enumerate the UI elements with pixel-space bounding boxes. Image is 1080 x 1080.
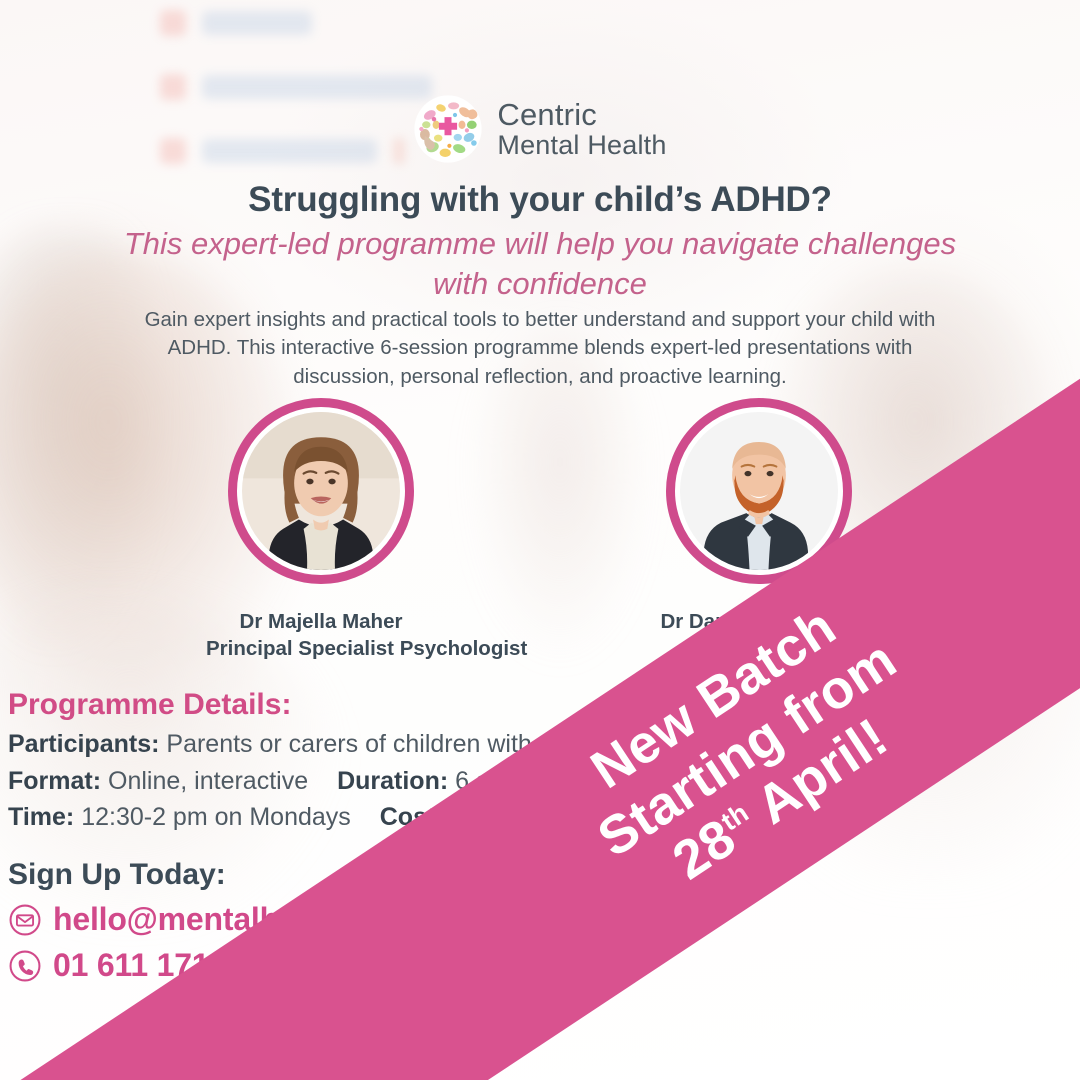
detail-value-time: 12:30-2 pm on Mondays [81,803,351,831]
detail-label-duration: Duration: [337,767,448,795]
email-icon [8,903,42,937]
detail-label-participants: Participants: [8,730,159,758]
programme-details-title: Programme Details: [8,688,627,722]
flyer-canvas: Centric Mental Health Struggling with yo… [0,0,1080,1080]
detail-value-format: Online, interactive [108,767,308,795]
presenter-photo-man [680,412,838,570]
presenter-role: Principal Specialist Psychologist [206,635,436,662]
detail-label-time: Time: [8,803,74,831]
presenter-card: Dr Majella Maher Principal Specialist Ps… [206,398,436,663]
detail-label-format: Format: [8,767,101,795]
presenter-photo-woman [242,412,400,570]
brand-name-line1: Centric [497,98,666,131]
avatar [228,398,414,584]
background-blurred-word-row [160,10,432,36]
phone-icon [8,949,42,983]
subheading: This expert-led programme will help you … [110,224,970,303]
headline: Struggling with your child’s ADHD? [60,180,1020,220]
wellness-collage-icon [413,94,483,164]
body-paragraph: Gain expert insights and practical tools… [118,306,962,391]
brand-logo: Centric Mental Health [0,94,1080,164]
blurred-word-bar [202,11,312,35]
brand-name: Centric Mental Health [497,98,666,161]
blurred-chip-icon [160,10,186,36]
presenter-name: Dr Majella Maher [206,608,436,635]
brand-name-line2: Mental Health [497,131,666,160]
